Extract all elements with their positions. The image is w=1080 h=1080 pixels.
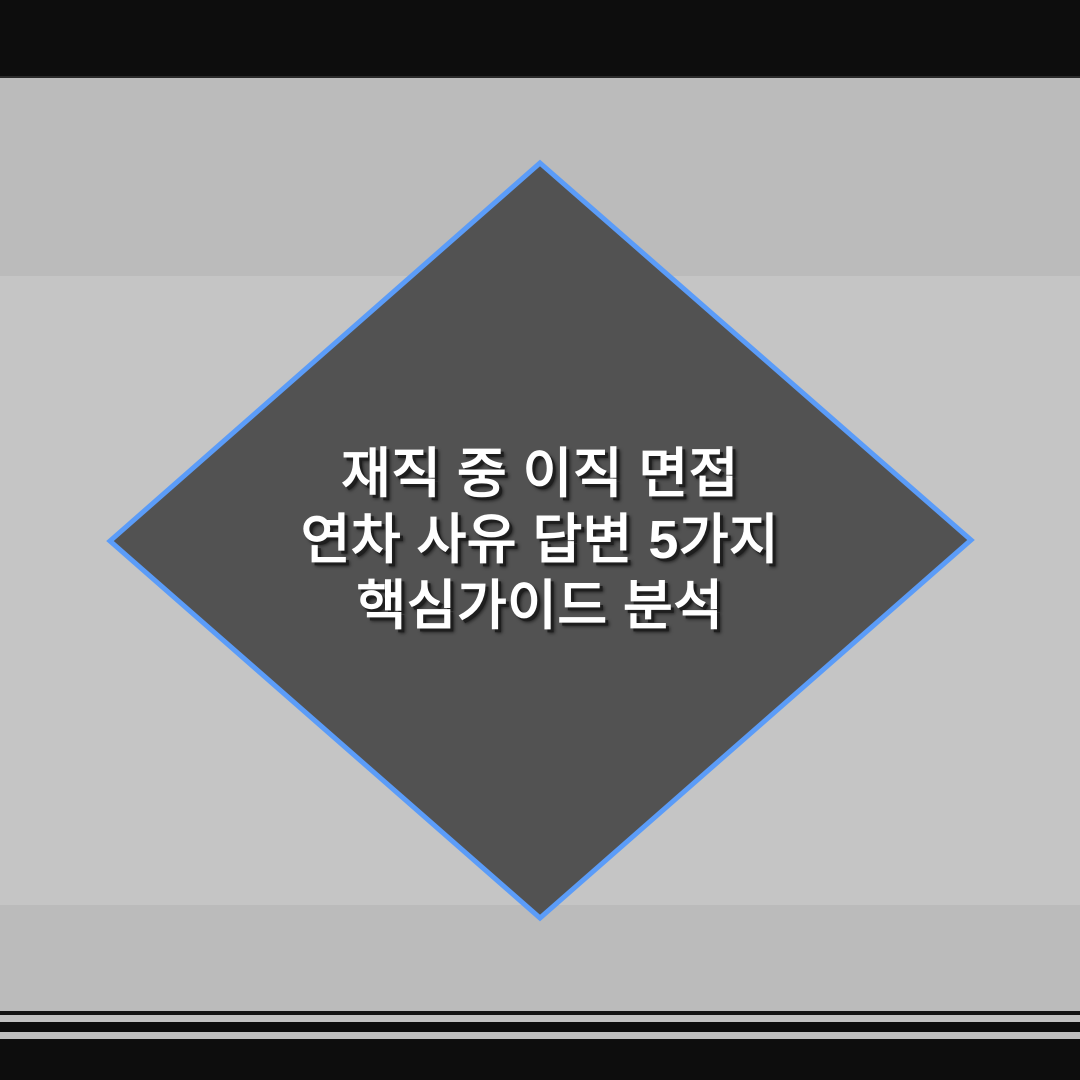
diamond-shape [0, 0, 1080, 1080]
thumbnail-canvas: 재직 중 이직 면접 연차 사유 답변 5가지 핵심가이드 분석 [0, 0, 1080, 1080]
diamond-polygon [110, 163, 971, 918]
